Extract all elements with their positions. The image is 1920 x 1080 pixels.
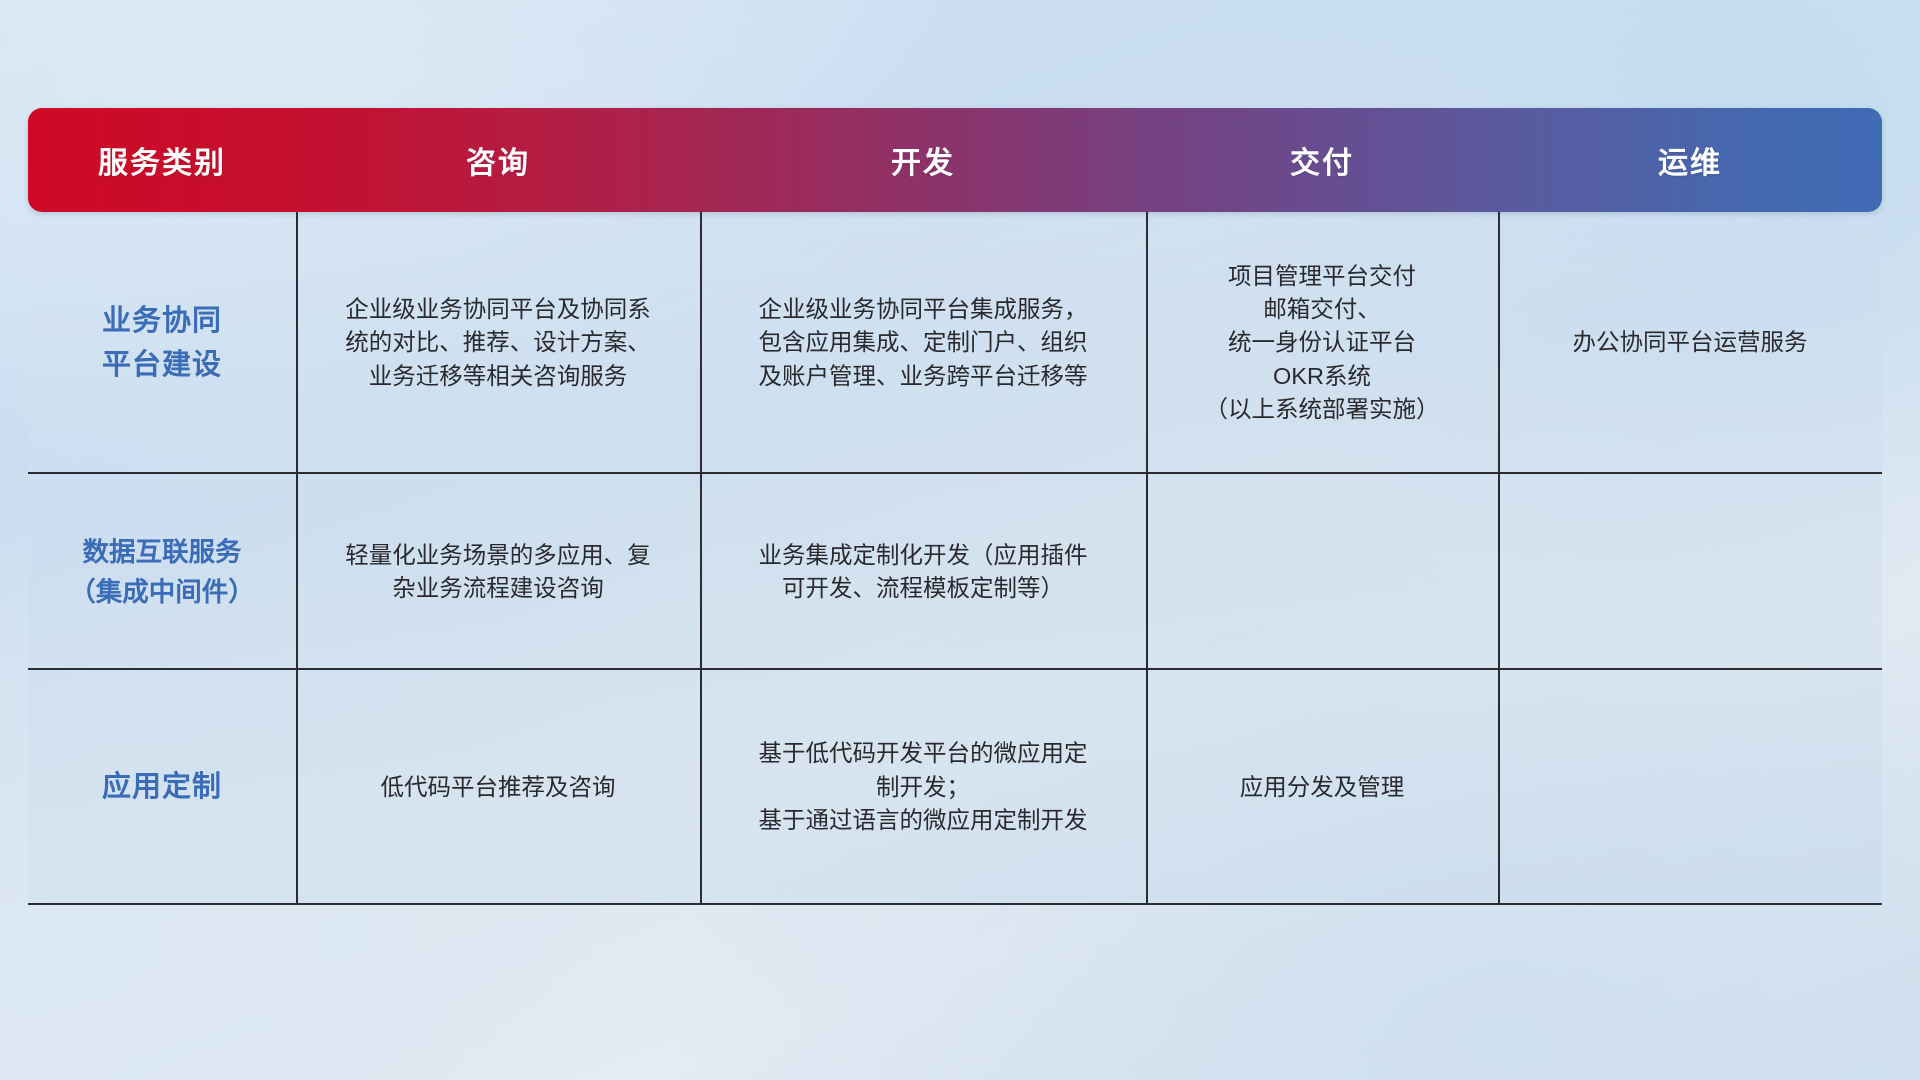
cell-consulting-business-collaboration-platform: 企业级业务协同平台及协同系 统的对比、推荐、设计方案、 业务迁移等相关咨询服务	[296, 212, 700, 474]
header-cell-consulting: 咨询	[296, 108, 700, 212]
cell-delivery-data-interconnect-service	[1146, 474, 1498, 670]
cell-delivery-application-customization: 应用分发及管理	[1146, 670, 1498, 905]
row-label-data-interconnect-service: 数据互联服务 （集成中间件）	[28, 474, 296, 670]
cell-operations-data-interconnect-service	[1498, 474, 1882, 670]
header-cell-development: 开发	[700, 108, 1146, 212]
table-row: 业务协同 平台建设 企业级业务协同平台及协同系 统的对比、推荐、设计方案、 业务…	[28, 212, 1882, 474]
cell-development-data-interconnect-service: 业务集成定制化开发（应用插件 可开发、流程模板定制等）	[700, 474, 1146, 670]
table-header-row: 服务类别 咨询 开发 交付 运维	[28, 108, 1882, 212]
cell-development-business-collaboration-platform: 企业级业务协同平台集成服务， 包含应用集成、定制门户、组织 及账户管理、业务跨平…	[700, 212, 1146, 474]
row-label-application-customization: 应用定制	[28, 670, 296, 905]
cell-delivery-business-collaboration-platform: 项目管理平台交付 邮箱交付、 统一身份认证平台 OKR系统 （以上系统部署实施）	[1146, 212, 1498, 474]
header-cell-service-category: 服务类别	[28, 108, 296, 212]
table-body: 业务协同 平台建设 企业级业务协同平台及协同系 统的对比、推荐、设计方案、 业务…	[28, 212, 1882, 905]
header-cell-delivery: 交付	[1146, 108, 1498, 212]
header-label-service-category: 服务类别	[98, 138, 226, 182]
header-label-development: 开发	[891, 138, 955, 182]
table-row: 数据互联服务 （集成中间件） 轻量化业务场景的多应用、复 杂业务流程建设咨询 业…	[28, 474, 1882, 670]
cell-consulting-application-customization: 低代码平台推荐及咨询	[296, 670, 700, 905]
cell-operations-application-customization	[1498, 670, 1882, 905]
service-matrix-table: 服务类别 咨询 开发 交付 运维 业务协同 平台建设 企业级业务协同平台及协同系…	[28, 108, 1882, 948]
header-label-operations: 运维	[1658, 138, 1722, 182]
header-label-delivery: 交付	[1290, 138, 1354, 182]
header-cell-operations: 运维	[1498, 108, 1882, 212]
header-label-consulting: 咨询	[466, 138, 530, 182]
row-label-business-collaboration-platform: 业务协同 平台建设	[28, 212, 296, 474]
cell-operations-business-collaboration-platform: 办公协同平台运营服务	[1498, 212, 1882, 474]
table-row: 应用定制 低代码平台推荐及咨询 基于低代码开发平台的微应用定 制开发； 基于通过…	[28, 670, 1882, 905]
cell-development-application-customization: 基于低代码开发平台的微应用定 制开发； 基于通过语言的微应用定制开发	[700, 670, 1146, 905]
cell-consulting-data-interconnect-service: 轻量化业务场景的多应用、复 杂业务流程建设咨询	[296, 474, 700, 670]
